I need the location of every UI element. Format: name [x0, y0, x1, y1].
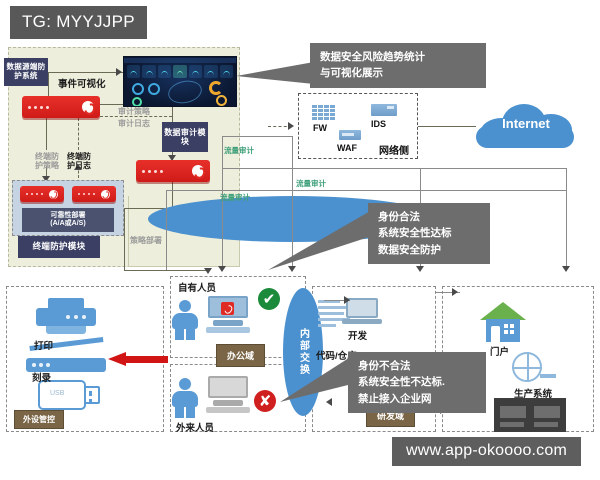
callout-allowed-conditions: 身份合法 系统安全性达标 数据安全防护 [368, 203, 490, 264]
firewall-icon [311, 104, 335, 120]
line-sys-to-device [48, 72, 49, 96]
ids-icon [371, 104, 397, 116]
arrow-to-prod [452, 288, 458, 296]
own-staff-person-icon [172, 300, 198, 340]
label-audit-policy: 审计策略 [118, 106, 150, 117]
label-portal: 门户 [490, 344, 509, 358]
portal-house-icon [480, 302, 526, 342]
usb-drive-icon: USB [38, 380, 100, 410]
dashboard-ring-4 [216, 95, 227, 106]
line-sys-top [48, 72, 123, 73]
flow-frame-left [222, 136, 223, 270]
status-dots [142, 170, 192, 173]
label-flow-audit-3: 流量审计 [220, 192, 250, 203]
internet-cloud: Internet [472, 100, 580, 150]
line-net-to-internet [418, 126, 476, 127]
callout-top-line1: 数据安全风险趋势统计 [320, 49, 476, 65]
red-appliance-audit [136, 160, 210, 182]
label-own-staff: 自有人员 [178, 280, 216, 294]
label-development: 开发 [348, 328, 367, 342]
dashboard-ring-2 [148, 83, 160, 95]
callout-allow-line1: 身份合法 [378, 209, 480, 225]
line-deploy-v [172, 182, 173, 208]
visitor-person-icon [172, 378, 198, 418]
callout-deny-line2: 系统安全性不达标. [358, 374, 476, 390]
callout-deny-tail [280, 350, 352, 402]
callout-allow-line2: 系统安全性达标 [378, 225, 480, 241]
callout-deny-line3: 禁止接入企业网 [358, 391, 476, 407]
arrow-to-network [288, 122, 294, 130]
line-dev-to-log [78, 118, 79, 150]
label-waf: WAF [337, 143, 357, 153]
label-fw: FW [313, 123, 327, 133]
red-appliance-main [22, 96, 100, 118]
production-dark-thumbnail [494, 398, 566, 432]
tg-tag: TG: MYYJJPP [10, 6, 147, 39]
own-staff-monitor-icon [208, 296, 248, 326]
line-dev-to-policy [46, 118, 47, 150]
status-dots [26, 193, 49, 195]
label-policy-deploy: 策略部署 [130, 235, 162, 246]
label-source-protection-system: 数据源端防护系统 [4, 58, 48, 86]
status-dots [78, 193, 101, 195]
site-watermark: www.app-okoooo.com [392, 437, 581, 466]
label-terminal-log: 终端防护日志 [64, 152, 94, 170]
label-flow-audit-2: 流量审计 [296, 178, 326, 189]
terminal-module-text: 终端防护模块 [33, 242, 86, 252]
production-bar-icon [540, 374, 556, 378]
label-reliability-deployment: 可靠性部署 (A/A或A/S) [22, 208, 114, 232]
callout-allow-line3: 数据安全防护 [378, 242, 480, 258]
arrow-deploy-office [204, 268, 212, 274]
arrow-to-dashboard [116, 68, 122, 76]
flow-top-1 [222, 136, 292, 137]
red-appliance-b [72, 186, 116, 202]
vendor-logo-icon [49, 190, 58, 199]
label-terminal-policy: 终端防护策略 [32, 152, 62, 170]
callout-top-line2: 与可视化展示 [320, 65, 476, 81]
waf-icon [339, 130, 361, 140]
flow-frame-far [566, 168, 567, 270]
vendor-logo-icon [101, 190, 110, 199]
source-system-text: 数据源端防护系统 [4, 63, 48, 80]
label-internet: Internet [472, 116, 580, 131]
arrow-flow-4 [562, 266, 570, 272]
arrow-to-dev [344, 296, 350, 304]
visitor-monitor-icon [208, 376, 248, 406]
callout-deny-line1: 身份不合法 [358, 358, 476, 374]
flow-frame-left2 [166, 190, 167, 270]
label-print: 打印 [34, 338, 53, 352]
dashboard-titlebar [124, 58, 236, 63]
label-flow-audit-1: 流量审计 [224, 145, 254, 156]
line-deploy-down [124, 208, 125, 270]
label-data-audit-module: 数据审计模块 [162, 122, 208, 152]
vendor-logo-icon [82, 101, 94, 113]
dashboard-ring-1 [132, 83, 144, 95]
callout-risk-trend: 数据安全风险趋势统计 与可视化展示 [310, 43, 486, 88]
callout-allow-tail [268, 206, 372, 270]
audit-module-text: 数据审计模块 [162, 128, 208, 146]
label-terminal-protection-module: 终端防护模块 [18, 236, 100, 258]
label-network-side: 网络侧 [379, 142, 409, 157]
blocked-transfer-arrow [108, 352, 168, 366]
label-burn: 刻录 [32, 370, 51, 384]
dashboard-arc [209, 81, 223, 95]
dashboard-gauges [127, 65, 233, 78]
line-deploy-bottom [124, 270, 208, 271]
denied-cross-icon: ✘ [254, 390, 276, 412]
reliability-line2: (A/A或A/S) [50, 220, 85, 228]
callout-top-tail [236, 62, 314, 92]
network-side-box: FW IDS WAF 网络侧 [298, 93, 418, 159]
printer-icon [36, 298, 96, 336]
red-appliance-a [20, 186, 64, 202]
usb-text: USB [50, 390, 64, 397]
badge-office-domain: 办公域 [216, 344, 265, 367]
security-dashboard-thumbnail [123, 56, 237, 107]
badge-peripheral-control: 外设管控 [14, 410, 64, 429]
callout-denied-conditions: 身份不合法 系统安全性不达标. 禁止接入企业网 [348, 352, 486, 413]
flow-top-3 [166, 190, 566, 191]
label-audit-log: 审计日志 [118, 118, 150, 129]
agent-installed-icon [221, 302, 234, 315]
production-globe-icon [512, 352, 542, 382]
label-event-visualization: 事件可视化 [58, 76, 106, 90]
allowed-check-icon: ✔ [258, 288, 280, 310]
vendor-logo-icon [192, 165, 204, 177]
label-ids: IDS [371, 119, 386, 129]
diagram-canvas: 数据源端防护系统 数据审计模块 终端防护模块 可靠性部署 (A/A或A/S) [0, 0, 600, 480]
arrow-flow-1 [218, 266, 226, 272]
label-production-system: 生产系统 [514, 386, 552, 400]
dashboard-orbit [166, 78, 204, 107]
label-visitor-staff: 外来人员 [176, 420, 214, 434]
status-dots [28, 106, 82, 109]
flow-top-2 [222, 168, 566, 169]
reliability-line1: 可靠性部署 [51, 212, 86, 220]
arrow-flow-3 [416, 266, 424, 272]
